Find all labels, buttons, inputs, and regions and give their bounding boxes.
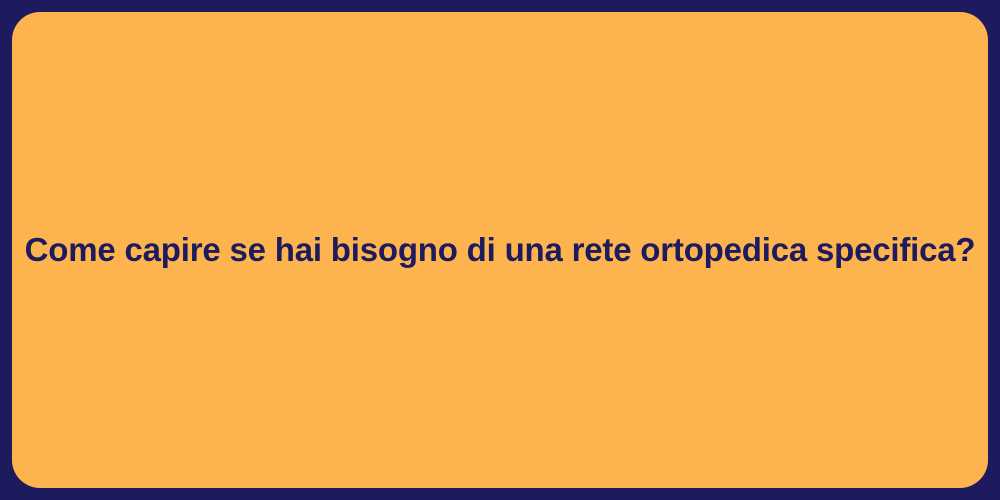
page-title: Come capire se hai bisogno di una rete o…	[25, 229, 976, 270]
banner-frame: Come capire se hai bisogno di una rete o…	[0, 0, 1000, 500]
banner-card: Come capire se hai bisogno di una rete o…	[12, 12, 988, 488]
